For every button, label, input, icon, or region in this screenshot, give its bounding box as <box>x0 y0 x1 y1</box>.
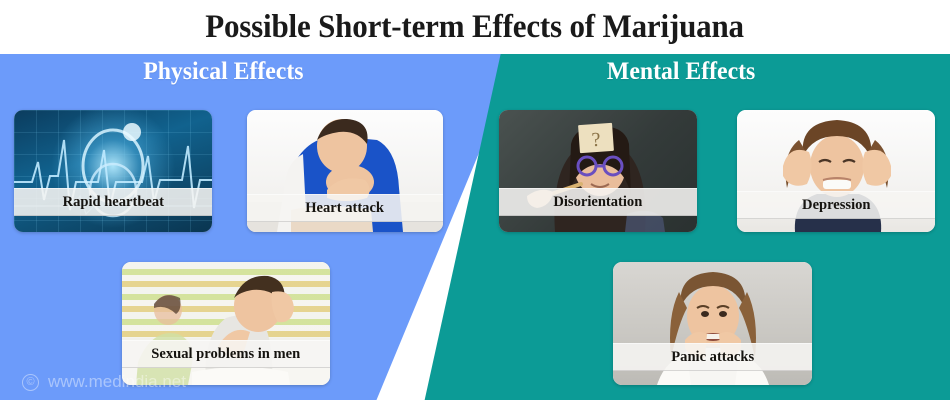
effect-card-heart-attack[interactable]: Heart attack <box>247 110 443 232</box>
infographic-root: Possible Short-term Effects of Marijuana… <box>0 0 950 400</box>
effect-card-sexual-problems-in-men[interactable]: Sexual problems in men <box>122 262 330 385</box>
svg-text:?: ? <box>591 129 602 152</box>
page-title: Possible Short-term Effects of Marijuana <box>206 9 745 46</box>
effect-card-panic-attacks[interactable]: Panic attacks <box>613 262 812 385</box>
card-caption-text: Heart attack <box>306 200 385 217</box>
card-caption-text: Depression <box>802 197 870 214</box>
card-caption-bar: Panic attacks <box>613 343 812 371</box>
card-caption-text: Panic attacks <box>671 349 754 366</box>
card-caption-text: Sexual problems in men <box>152 346 301 363</box>
card-caption-text: Rapid heartbeat <box>62 194 163 211</box>
card-caption-bar: Sexual problems in men <box>122 340 330 368</box>
section-header-physical: Physical Effects <box>143 58 303 86</box>
card-caption-text: Disorientation <box>554 194 643 211</box>
card-caption-bar: Disorientation <box>499 188 697 216</box>
card-caption-bar: Depression <box>737 191 935 219</box>
card-caption-bar: Heart attack <box>247 194 443 222</box>
section-header-mental: Mental Effects <box>607 58 755 86</box>
effect-card-disorientation[interactable]: ? Disorientation <box>499 110 697 232</box>
title-band: Possible Short-term Effects of Marijuana <box>0 0 950 54</box>
effect-card-rapid-heartbeat[interactable]: Rapid heartbeat <box>14 110 212 232</box>
effect-card-depression[interactable]: Depression <box>737 110 935 232</box>
card-caption-bar: Rapid heartbeat <box>14 188 212 216</box>
